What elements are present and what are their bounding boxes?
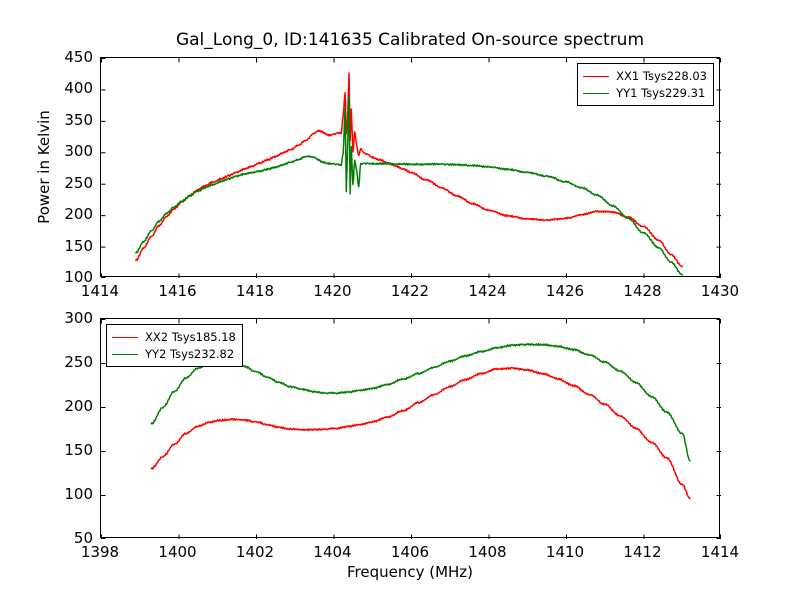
figure-canvas: Gal_Long_0, ID:141635 Calibrated On-sour… bbox=[0, 0, 800, 600]
legend-line-swatch bbox=[112, 354, 138, 355]
bottom-y-tick: 250 bbox=[38, 353, 93, 371]
legend-line-swatch bbox=[112, 337, 138, 338]
legend-label: XX2 Tsys185.18 bbox=[145, 329, 236, 346]
top-x-tick: 1416 bbox=[158, 282, 196, 300]
legend-entry: XX2 Tsys185.18 bbox=[112, 329, 236, 346]
bottom-y-tick: 100 bbox=[38, 485, 93, 503]
top-x-tick: 1422 bbox=[391, 282, 429, 300]
legend-line-swatch bbox=[583, 93, 609, 94]
top-y-tick: 450 bbox=[38, 48, 93, 66]
bottom-x-tick: 1414 bbox=[701, 543, 739, 561]
bottom-spectrum-axes: XX2 Tsys185.18YY2 Tsys232.82 bbox=[100, 318, 720, 538]
bottom-x-tick: 1406 bbox=[391, 543, 429, 561]
bottom-y-tick: 200 bbox=[38, 397, 93, 415]
bottom-y-tick: 150 bbox=[38, 441, 93, 459]
legend-entry: YY2 Tsys232.82 bbox=[112, 346, 236, 363]
bottom-x-tick: 1412 bbox=[623, 543, 661, 561]
bottom-x-tick: 1408 bbox=[468, 543, 506, 561]
top-x-tick: 1428 bbox=[623, 282, 661, 300]
bottom-x-tick: 1410 bbox=[546, 543, 584, 561]
legend-label: YY2 Tsys232.82 bbox=[145, 346, 234, 363]
bottom-x-tick: 1404 bbox=[313, 543, 351, 561]
bottom-y-tick: 300 bbox=[38, 309, 93, 327]
bottom-x-tick: 1400 bbox=[158, 543, 196, 561]
top-x-tick: 1430 bbox=[701, 282, 739, 300]
bottom-x-axis-label: Frequency (MHz) bbox=[100, 563, 720, 581]
legend-label: YY1 Tsys229.31 bbox=[616, 85, 705, 102]
legend-entry: XX1 Tsys228.03 bbox=[583, 68, 707, 85]
top-x-tick: 1414 bbox=[81, 282, 119, 300]
bottom-x-tick: 1402 bbox=[236, 543, 274, 561]
page-title: Gal_Long_0, ID:141635 Calibrated On-sour… bbox=[100, 30, 720, 50]
top-legend: XX1 Tsys228.03YY1 Tsys229.31 bbox=[577, 63, 714, 106]
top-x-tick: 1426 bbox=[546, 282, 584, 300]
bottom-x-tick: 1398 bbox=[81, 543, 119, 561]
top-spectrum-axes: XX1 Tsys228.03YY1 Tsys229.31 bbox=[100, 57, 720, 277]
top-y-axis-label: Power in Kelvin bbox=[35, 67, 53, 267]
bottom-legend: XX2 Tsys185.18YY2 Tsys232.82 bbox=[106, 324, 243, 367]
legend-line-swatch bbox=[583, 76, 609, 77]
legend-label: XX1 Tsys228.03 bbox=[616, 68, 707, 85]
top-x-tick: 1424 bbox=[468, 282, 506, 300]
top-x-tick: 1418 bbox=[236, 282, 274, 300]
legend-entry: YY1 Tsys229.31 bbox=[583, 85, 707, 102]
top-x-tick: 1420 bbox=[313, 282, 351, 300]
